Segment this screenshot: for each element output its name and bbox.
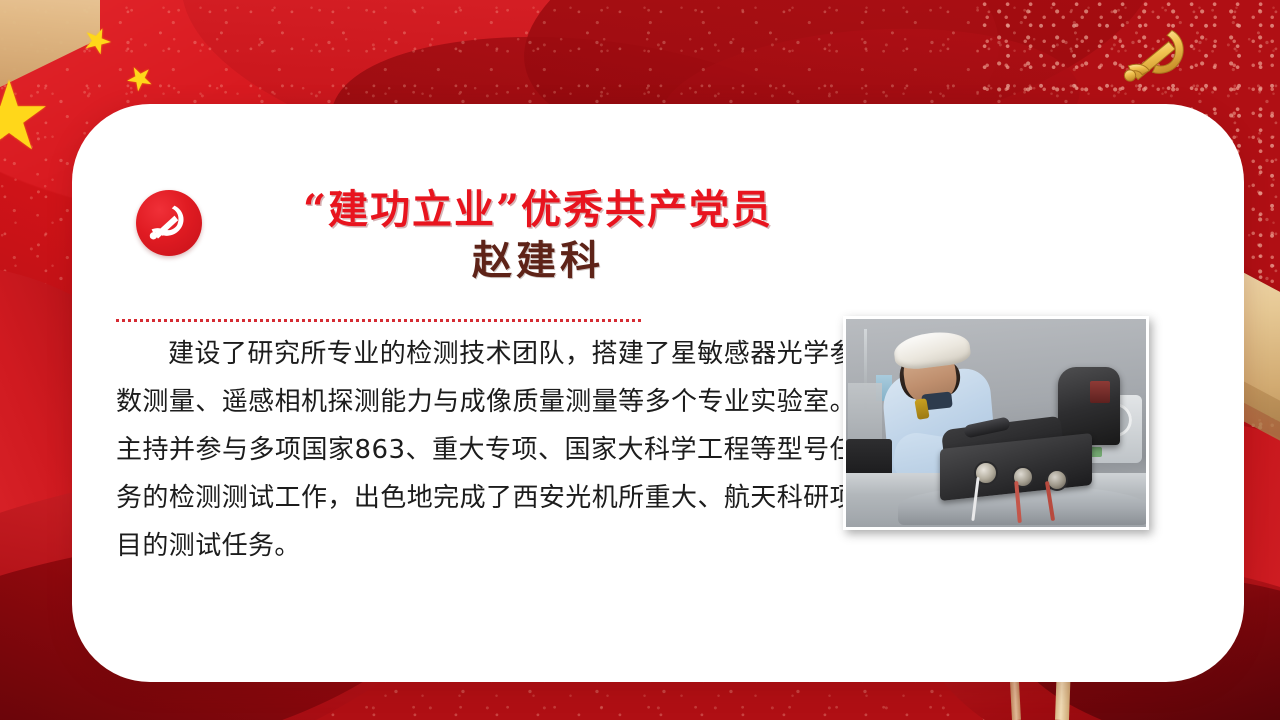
person-name: 赵建科 <box>228 237 848 284</box>
body-paragraph: 建设了研究所专业的检测技术团队，搭建了星敏感器光学参数测量、遥感相机探测能力与成… <box>116 330 856 570</box>
content-card: “建功立业”优秀共产党员 赵建科 建设了研究所专业的检测技术团队，搭建了星敏感器… <box>72 104 1244 682</box>
dotted-divider <box>116 319 642 322</box>
hammer-sickle-icon <box>136 190 202 256</box>
flag-star-small-2: ★ <box>119 57 162 100</box>
title-block: “建功立业”优秀共产党员 赵建科 <box>228 186 848 284</box>
header-block: “建功立业”优秀共产党员 赵建科 <box>108 186 1208 284</box>
flag-star-large: ★ <box>0 68 52 164</box>
slide-root: ★ ★ ★ ★ ★ <box>0 0 1280 720</box>
flag-star-small-1: ★ <box>77 20 118 63</box>
party-emblem-hammer-sickle-icon <box>1118 24 1200 90</box>
photo-equipment-label <box>1090 381 1110 403</box>
lab-technician-photo <box>843 316 1149 530</box>
page-title: “建功立业”优秀共产党员 <box>228 186 848 235</box>
